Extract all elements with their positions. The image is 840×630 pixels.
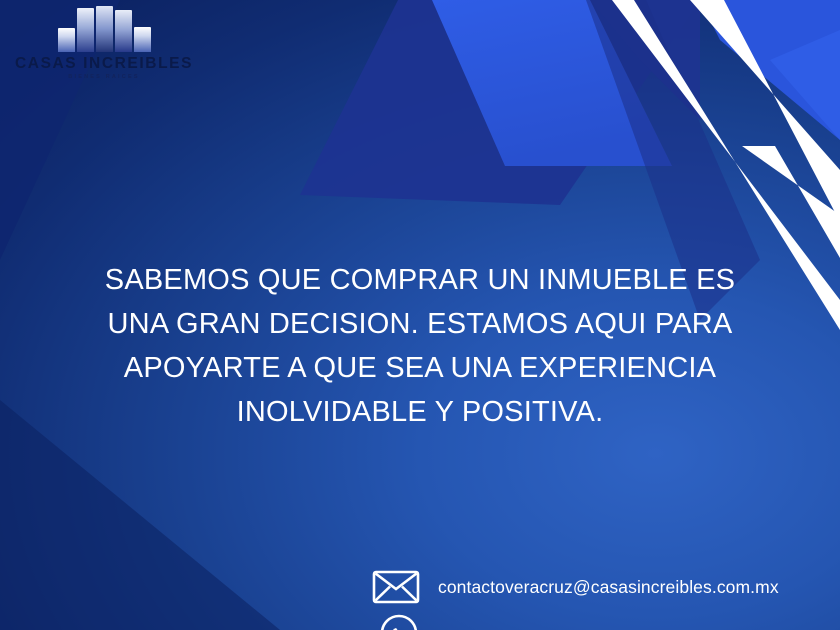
tower-bar	[96, 6, 113, 52]
contact-email-row[interactable]: contactoveracruz@casasincreibles.com.mx	[372, 570, 779, 604]
headline-line-1: SABEMOS QUE COMPRAR UN INMUEBLE ES	[60, 258, 780, 302]
building-towers-icon	[49, 6, 159, 52]
headline-line-3: APOYARTE A QUE SEA UNA EXPERIENCIA	[60, 346, 780, 390]
tower-bar	[134, 27, 151, 52]
tower-bar	[58, 28, 75, 52]
tower-bar	[77, 8, 94, 52]
brand-subtitle: BIENES RAICES	[68, 74, 139, 80]
headline-line-4: INOLVIDABLE Y POSITIVA.	[60, 390, 780, 434]
bottom-left-shadow	[0, 400, 280, 630]
whatsapp-circle-icon[interactable]	[380, 614, 418, 630]
envelope-icon	[372, 570, 420, 604]
promo-poster: CASAS INCREIBLES BIENES RAICES SABEMOS Q…	[0, 0, 840, 630]
headline-text: SABEMOS QUE COMPRAR UN INMUEBLE ES UNA G…	[60, 258, 780, 434]
contact-email-text: contactoveracruz@casasincreibles.com.mx	[438, 577, 779, 598]
headline-line-2: UNA GRAN DECISION. ESTAMOS AQUI PARA	[60, 302, 780, 346]
brand-logo[interactable]: CASAS INCREIBLES BIENES RAICES	[16, 0, 192, 84]
tower-bar	[115, 10, 132, 52]
brand-name: CASAS INCREIBLES	[15, 55, 193, 72]
